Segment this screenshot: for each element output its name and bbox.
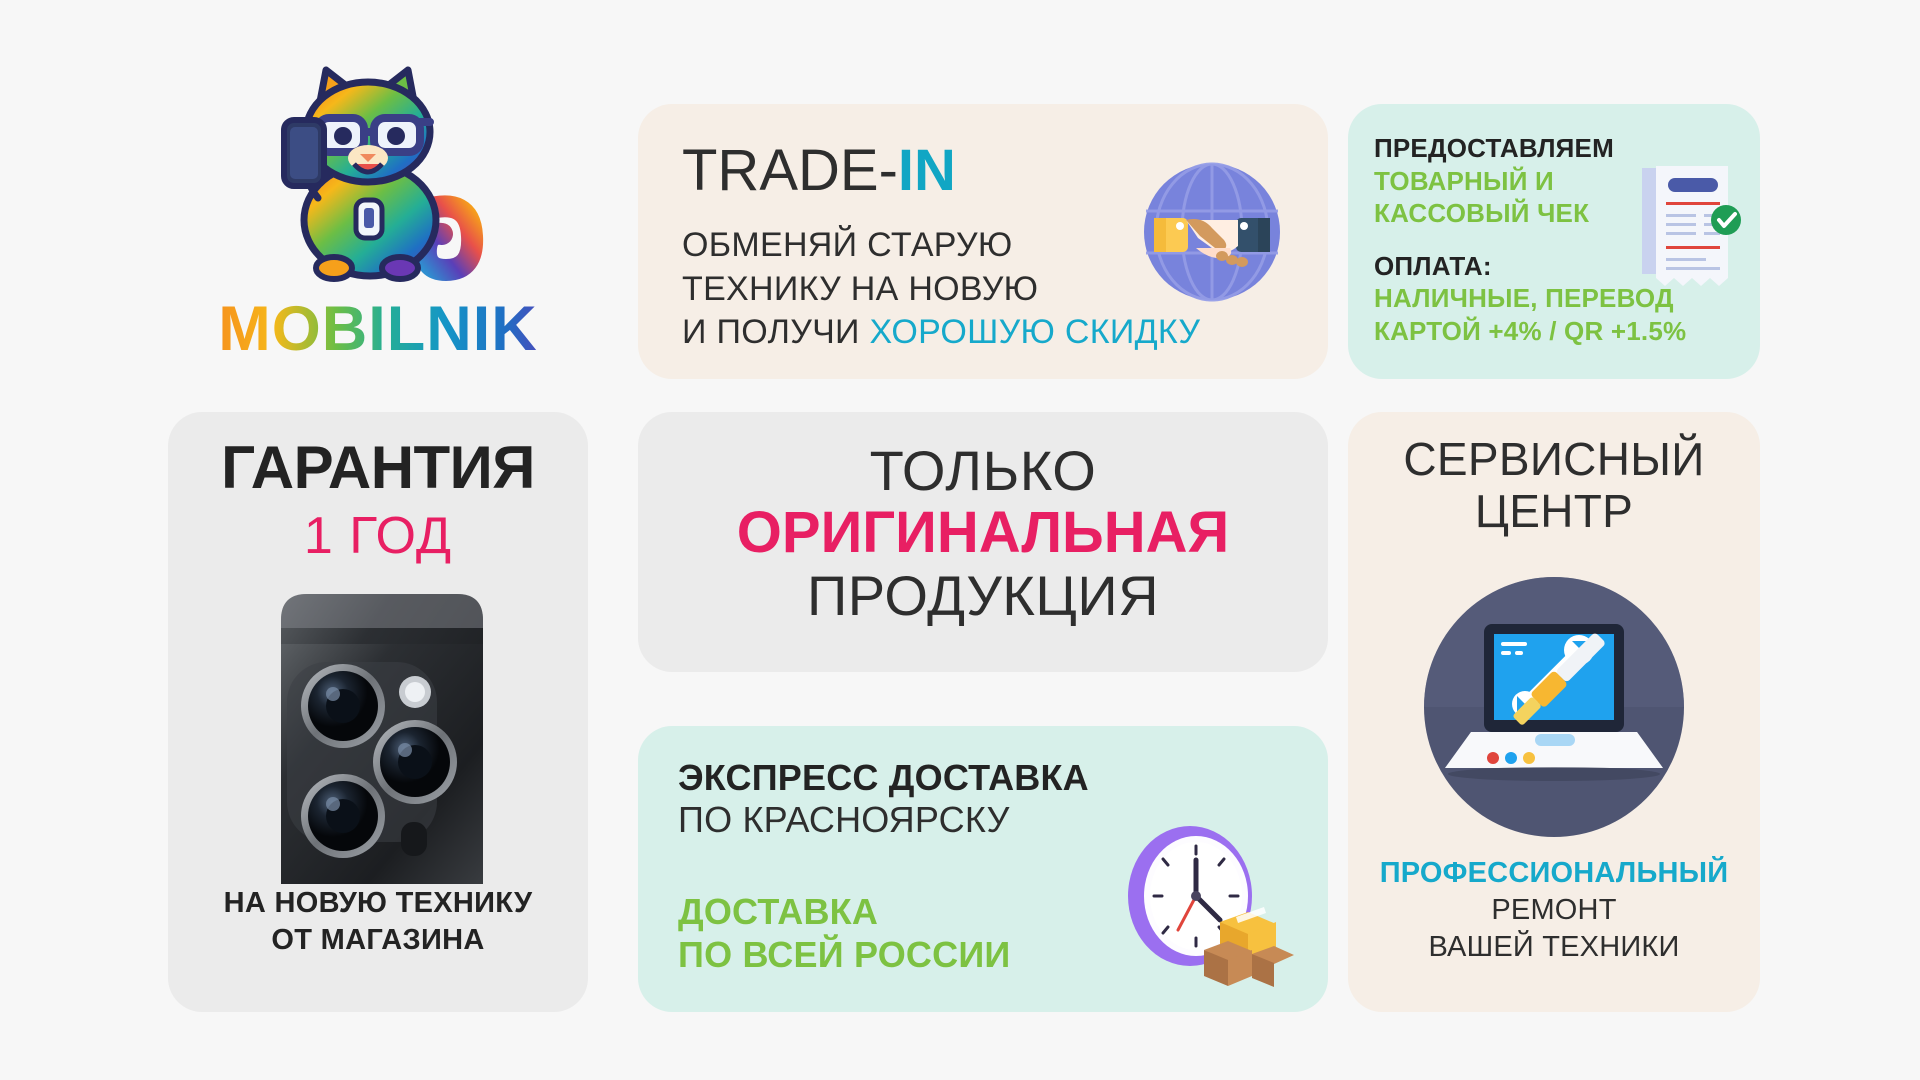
trade-in-title-main: TRADE- bbox=[682, 138, 898, 203]
delivery-line-1: ЭКСПРЕСС ДОСТАВКА bbox=[678, 758, 1288, 798]
card-warranty[interactable]: ГАРАНТИЯ 1 ГОД bbox=[168, 412, 588, 1012]
handshake-globe-icon bbox=[1136, 156, 1288, 308]
card-trade-in[interactable]: TRADE-IN ОБМЕНЯЙ СТАРУЮ ТЕХНИКУ НА НОВУЮ… bbox=[638, 104, 1328, 379]
mascot-cat-icon bbox=[248, 60, 508, 305]
brand-block: MOBILNIK bbox=[168, 60, 588, 380]
warranty-period: 1 ГОД bbox=[188, 510, 568, 562]
trade-in-line-3-plain: И ПОЛУЧИ bbox=[682, 313, 870, 351]
warranty-foot-line-1: НА НОВУЮ ТЕХНИКУ bbox=[168, 885, 588, 923]
service-title-line-1: СЕРВИСНЫЙ bbox=[1366, 434, 1742, 486]
service-footer: ПРОФЕССИОНАЛЬНЫЙ РЕМОНТ ВАШЕЙ ТЕХНИКИ bbox=[1348, 855, 1760, 966]
service-foot-line-3: ВАШЕЙ ТЕХНИКИ bbox=[1348, 929, 1760, 966]
receipt-check-icon bbox=[1634, 160, 1742, 292]
promo-banner: MOBILNIK TRADE-IN ОБМЕНЯЙ СТАРУЮ ТЕХНИКУ… bbox=[0, 0, 1920, 1080]
original-line-2: ОРИГИНАЛЬНАЯ bbox=[658, 501, 1308, 566]
iphone-camera-module-icon bbox=[263, 584, 493, 889]
trade-in-line-3-accent: ХОРОШУЮ СКИДКУ bbox=[870, 313, 1201, 351]
original-line-1: ТОЛЬКО bbox=[658, 442, 1308, 501]
card-delivery[interactable]: ЭКСПРЕСС ДОСТАВКА ПО КРАСНОЯРСКУ ДОСТАВК… bbox=[638, 726, 1328, 1012]
warranty-title: ГАРАНТИЯ bbox=[188, 438, 568, 498]
service-foot-line-1: ПРОФЕССИОНАЛЬНЫЙ bbox=[1348, 855, 1760, 892]
clock-parcels-icon bbox=[1104, 804, 1294, 994]
service-foot-line-2: РЕМОНТ bbox=[1348, 892, 1760, 929]
brand-wordmark: MOBILNIK bbox=[168, 298, 588, 361]
card-original-product[interactable]: ТОЛЬКО ОРИГИНАЛЬНАЯ ПРОДУКЦИЯ bbox=[638, 412, 1328, 672]
service-title-line-2: ЦЕНТР bbox=[1366, 486, 1742, 538]
laptop-tools-repair-icon bbox=[1409, 562, 1699, 852]
card-service-center[interactable]: СЕРВИСНЫЙ ЦЕНТР bbox=[1348, 412, 1760, 1012]
card-receipt-payment[interactable]: ПРЕДОСТАВЛЯЕМ ТОВАРНЫЙ И КАССОВЫЙ ЧЕК ОП… bbox=[1348, 104, 1760, 379]
warranty-footer: НА НОВУЮ ТЕХНИКУ ОТ МАГАЗИНА bbox=[168, 885, 588, 960]
trade-in-line-3: И ПОЛУЧИ ХОРОШУЮ СКИДКУ bbox=[682, 311, 1284, 355]
original-line-3: ПРОДУКЦИЯ bbox=[658, 566, 1308, 626]
payment-line-2: КАРТОЙ +4% / QR +1.5% bbox=[1374, 315, 1734, 348]
trade-in-title-accent: IN bbox=[898, 138, 956, 203]
warranty-foot-line-2: ОТ МАГАЗИНА bbox=[168, 922, 588, 960]
